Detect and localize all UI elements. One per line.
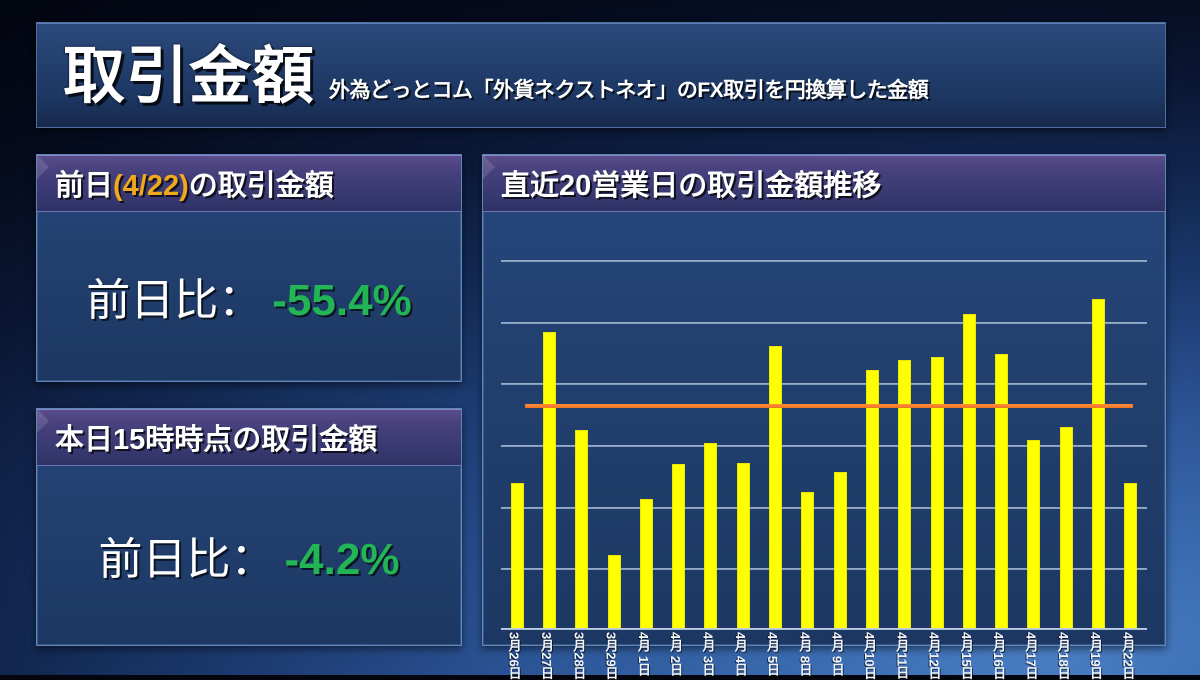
page-title: 取引金額 <box>63 46 315 108</box>
bevel-corner-icon <box>483 155 495 179</box>
chart-bar <box>672 464 685 630</box>
today-panel-body: 前日比：-4.2% <box>37 466 461 644</box>
chart-x-label: 4月 9日 <box>834 632 847 676</box>
previous-day-ratio-label: 前日比： <box>86 276 262 325</box>
chart-x-label: 3月27日 <box>543 632 556 680</box>
previous-day-panel-body: 前日比：-55.4% <box>37 212 461 380</box>
chart-bar <box>834 472 847 630</box>
today-panel-header: 本日15時時点の取引金額 <box>37 409 461 466</box>
chart-x-label: 4月 5日 <box>769 632 782 676</box>
chart-bar <box>866 370 879 630</box>
header-bar: 取引金額 外為どっとコム「外貨ネクストネオ」のFX取引を円換算した金額 <box>36 22 1166 128</box>
chart-bar <box>640 499 653 630</box>
chart-panel-title: 直近20営業日の取引金額推移 <box>501 162 881 204</box>
previous-day-title-prefix: 前日 <box>55 170 113 202</box>
chart-x-label: 4月16日 <box>995 632 1008 680</box>
page-subtitle: 外為どっとコム「外貨ネクストネオ」のFX取引を円換算した金額 <box>329 74 928 104</box>
chart-bar <box>801 492 814 630</box>
chart-bar <box>963 314 976 630</box>
chart-panel-header: 直近20営業日の取引金額推移 <box>483 155 1165 212</box>
chart-x-label: 3月29日 <box>608 632 621 680</box>
chart-x-label: 4月 4日 <box>737 632 750 676</box>
previous-day-title-date: (4/22) <box>113 170 189 202</box>
chart-bar <box>1060 427 1073 630</box>
chart-bar <box>1124 483 1137 630</box>
previous-day-ratio-row: 前日比：-55.4% <box>86 264 411 328</box>
chart-bar <box>608 555 621 630</box>
previous-day-panel-header: 前日(4/22)の取引金額 <box>37 155 461 212</box>
chart-bar <box>1092 299 1105 630</box>
previous-day-ratio-value: -55.4% <box>272 276 411 325</box>
bevel-corner-icon <box>37 155 49 179</box>
previous-day-panel-title: 前日(4/22)の取引金額 <box>55 162 334 204</box>
chart-bar <box>575 430 588 630</box>
today-panel: 本日15時時点の取引金額 前日比：-4.2% <box>36 408 462 646</box>
chart-x-label: 4月17日 <box>1027 632 1040 680</box>
previous-day-panel: 前日(4/22)の取引金額 前日比：-55.4% <box>36 154 462 382</box>
chart-x-label: 4月12日 <box>931 632 944 680</box>
chart-x-label: 4月10日 <box>866 632 879 680</box>
today-ratio-row: 前日比：-4.2% <box>99 523 400 587</box>
chart-bar <box>931 357 944 630</box>
chart-baseline <box>501 628 1147 630</box>
today-ratio-value: -4.2% <box>285 535 400 584</box>
chart-x-label: 4月 2日 <box>672 632 685 676</box>
today-panel-title: 本日15時時点の取引金額 <box>55 416 377 458</box>
chart-x-label: 4月15日 <box>963 632 976 680</box>
chart-plot <box>501 260 1147 630</box>
chart-panel: 直近20営業日の取引金額推移 3月26日3月27日3月28日3月29日4月 1日… <box>482 154 1166 646</box>
chart-x-label: 3月26日 <box>511 632 524 680</box>
chart-bar <box>704 443 717 630</box>
previous-day-title-suffix: の取引金額 <box>189 170 334 202</box>
chart-x-label: 3月28日 <box>575 632 588 680</box>
slide-root: 取引金額 外為どっとコム「外貨ネクストネオ」のFX取引を円換算した金額 前日(4… <box>0 0 1200 675</box>
chart-x-label: 4月 1日 <box>640 632 653 676</box>
chart-x-label: 4月18日 <box>1060 632 1073 680</box>
chart-bar <box>511 483 524 630</box>
chart-bars <box>501 260 1147 630</box>
today-ratio-label: 前日比： <box>99 535 275 584</box>
chart-bar <box>1027 440 1040 630</box>
chart-area: 3月26日3月27日3月28日3月29日4月 1日4月 2日4月 3日4月 4日… <box>483 212 1165 644</box>
bevel-corner-icon <box>37 409 49 433</box>
chart-bar <box>543 332 556 630</box>
chart-x-label: 4月22日 <box>1124 632 1137 680</box>
chart-x-label: 4月19日 <box>1092 632 1105 680</box>
chart-bar <box>769 346 782 630</box>
chart-bar <box>995 354 1008 630</box>
chart-bar <box>737 463 750 630</box>
chart-x-label: 4月 8日 <box>801 632 814 676</box>
chart-x-label: 4月 3日 <box>704 632 717 676</box>
chart-bar <box>898 360 911 630</box>
chart-average-line <box>525 404 1133 408</box>
chart-x-label: 4月11日 <box>898 632 911 679</box>
